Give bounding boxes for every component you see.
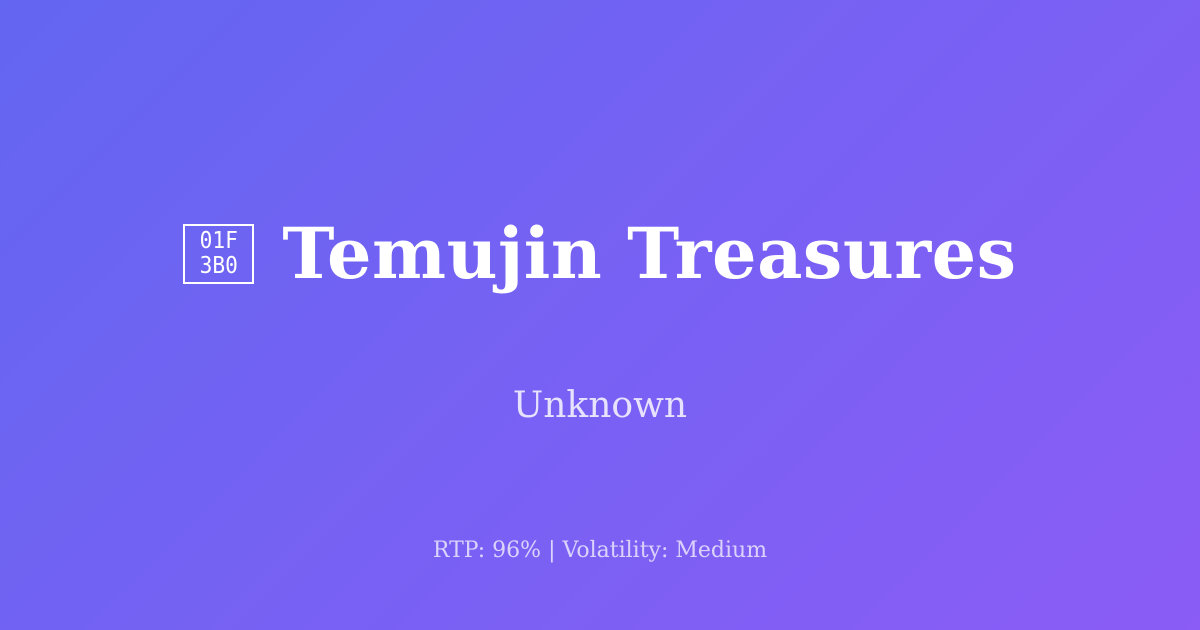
page-title: Temujin Treasures [282,219,1016,289]
provider-subtitle: Unknown [513,388,687,424]
title-row: 01F 3B0 Temujin Treasures [0,172,1200,336]
game-meta-text: RTP: 96% | Volatility: Medium [433,538,767,563]
tofu-codepoint-bottom: 3B0 [200,254,238,279]
meta-strip: RTP: 96% | Volatility: Medium [0,540,1200,562]
og-card: 01F 3B0 Temujin Treasures Unknown RTP: 9… [0,0,1200,630]
tofu-codepoint-top: 01F [200,229,238,254]
slot-machine-icon: 01F 3B0 [183,224,254,284]
